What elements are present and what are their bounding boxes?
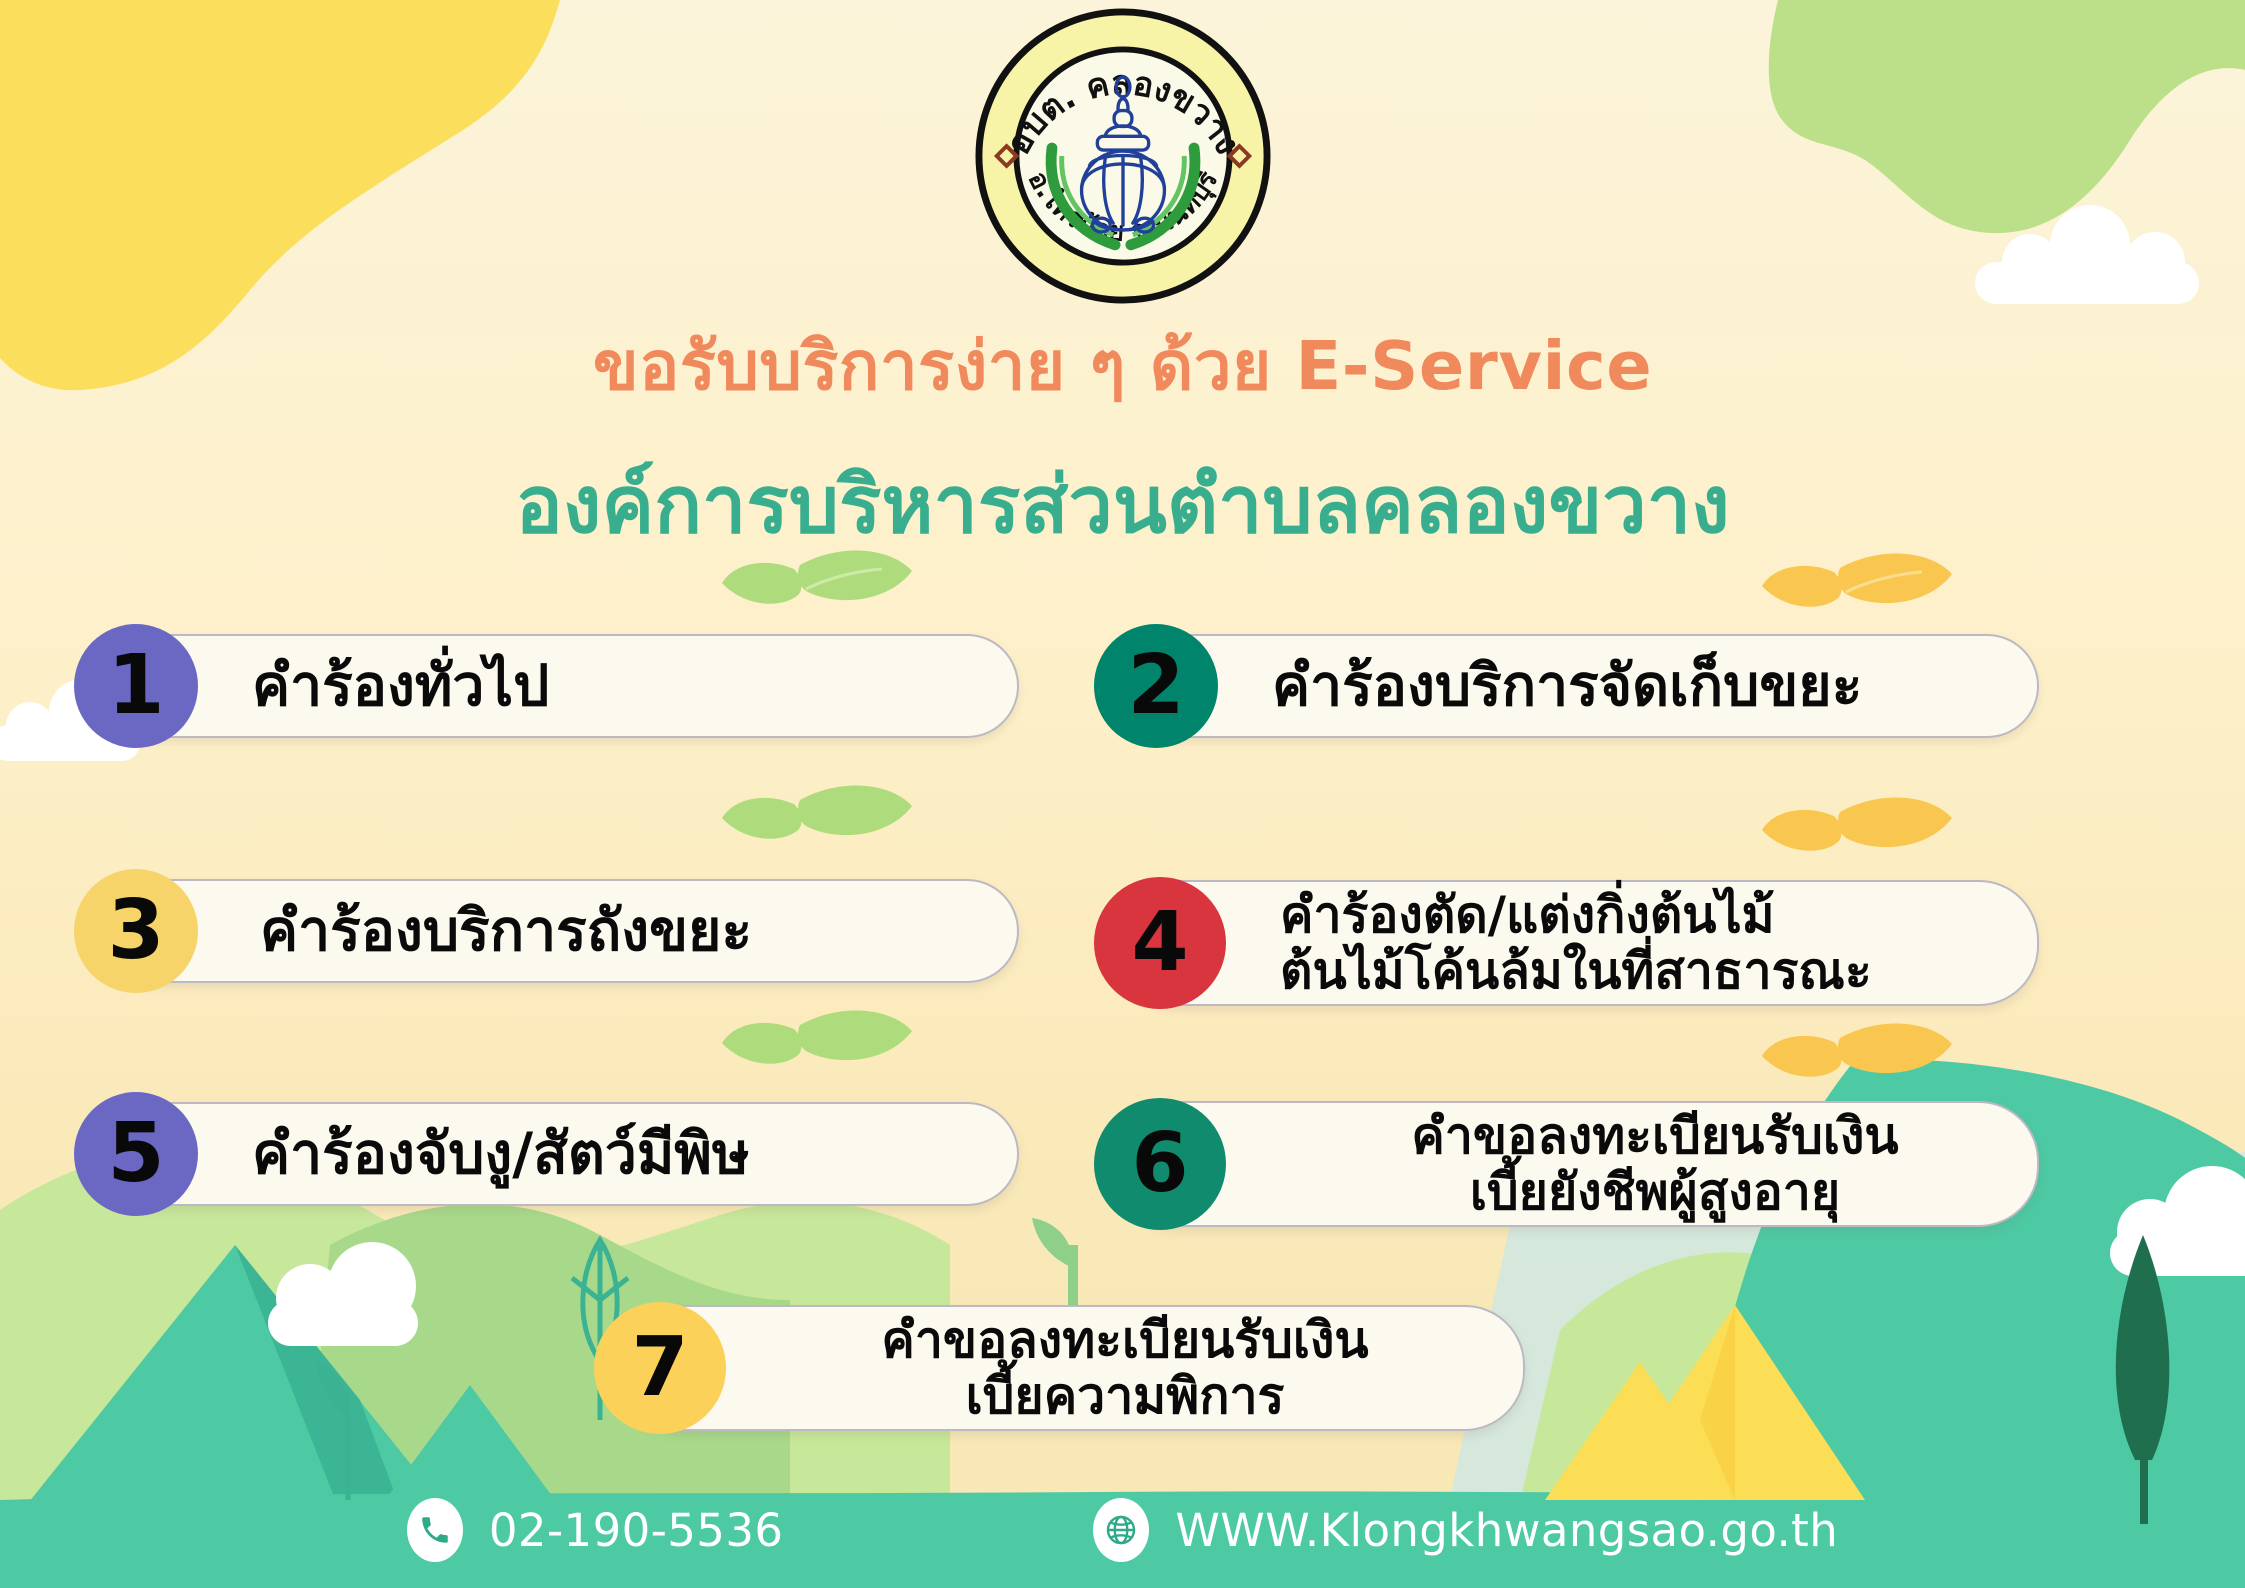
page-title: ขอรับบริการง่าย ๆ ด้วย E-Service [0, 330, 2245, 404]
service-card-7[interactable]: 7 คำขอลงทะเบียนรับเงิน เบี้ยความพิการ [618, 1305, 1525, 1431]
footer-website[interactable]: WWW.Klongkhwangsao.go.th [1093, 1498, 1838, 1562]
leaf-yellow-row2 [1762, 798, 1952, 851]
service-label-7-line2: เบี้ยความพิการ [966, 1367, 1285, 1425]
blob-green-topright [1769, 0, 2245, 233]
poster-canvas: อบต. คลองขวาง อ.ไทรน้อย จ.นนทบุรี [0, 0, 2245, 1588]
service-number-badge-4: 4 [1094, 877, 1226, 1009]
organization-seal-logo: อบต. คลองขวาง อ.ไทรน้อย จ.นนทบุรี [975, 8, 1271, 304]
service-card-2[interactable]: 2 คำร้องบริการจัดเก็บขยะ [1118, 634, 2039, 738]
service-label-6: คำขอลงทะเบียนรับเงิน เบี้ยยังชีพผู้สูงอา… [1310, 1108, 2000, 1220]
leaf-green-row1 [722, 551, 912, 604]
leaf-green-row3 [722, 1011, 912, 1064]
service-card-6[interactable]: 6 คำขอลงทะเบียนรับเงิน เบี้ยยังชีพผู้สูง… [1118, 1101, 2039, 1227]
service-label-4-line2: ต้นไม้โค้นล้มในที่สาธารณะ [1280, 942, 1872, 1000]
service-label-2: คำร้องบริการจัดเก็บขยะ [1272, 657, 1862, 715]
service-card-5[interactable]: 5 คำร้องจับงู/สัตว์มีพิษ [98, 1102, 1019, 1206]
page-subtitle: องค์การบริหารส่วนตำบลคลองขวาง [0, 462, 2245, 549]
contact-footer: 02-190-5536 WWW.Klongkhwangsao.go.th [0, 1472, 2245, 1588]
service-label-6-line1: คำขอลงทะเบียนรับเงิน [1411, 1107, 1898, 1165]
service-card-1[interactable]: 1 คำร้องทั่วไป [98, 634, 1019, 738]
service-card-4[interactable]: 4 คำร้องตัด/แต่งกิ่งต้นไม้ ต้นไม้โค้นล้ม… [1118, 880, 2039, 1006]
leaf-yellow-row1 [1762, 554, 1952, 607]
phone-icon [407, 1498, 463, 1562]
service-label-4: คำร้องตัด/แต่งกิ่งต้นไม้ ต้นไม้โค้นล้มใน… [1280, 887, 1872, 999]
service-number-badge-3: 3 [74, 869, 198, 993]
cloud-bottom-right [2110, 1166, 2245, 1276]
service-label-7: คำขอลงทะเบียนรับเงิน เบี้ยความพิการ [795, 1312, 1455, 1424]
service-number-badge-6: 6 [1094, 1098, 1226, 1230]
tent-yellow-large [1605, 1305, 1865, 1500]
globe-icon [1093, 1498, 1149, 1562]
service-label-3: คำร้องบริการถังขยะ [260, 902, 752, 960]
service-number-badge-5: 5 [74, 1092, 198, 1216]
service-label-1: คำร้องทั่วไป [252, 657, 549, 715]
cloud-bottom-left [268, 1242, 418, 1346]
footer-phone[interactable]: 02-190-5536 [407, 1498, 784, 1562]
service-number-badge-2: 2 [1094, 624, 1218, 748]
website-url: WWW.Klongkhwangsao.go.th [1175, 1504, 1838, 1557]
leaf-yellow-row3 [1762, 1024, 1952, 1077]
leaf-green-row2 [722, 786, 912, 839]
service-number-badge-7: 7 [594, 1302, 726, 1434]
service-label-5: คำร้องจับงู/สัตว์มีพิษ [252, 1125, 750, 1183]
phone-number: 02-190-5536 [489, 1504, 784, 1557]
cloud-top-right [1975, 205, 2199, 304]
tent-yellow-fold [1700, 1305, 1735, 1500]
service-label-6-line2: เบี้ยยังชีพผู้สูงอายุ [1470, 1163, 1840, 1221]
service-label-7-line1: คำขอลงทะเบียนรับเงิน [881, 1311, 1368, 1369]
service-card-3[interactable]: 3 คำร้องบริการถังขยะ [98, 879, 1019, 983]
service-label-4-line1: คำร้องตัด/แต่งกิ่งต้นไม้ [1280, 886, 1775, 944]
service-number-badge-1: 1 [74, 624, 198, 748]
